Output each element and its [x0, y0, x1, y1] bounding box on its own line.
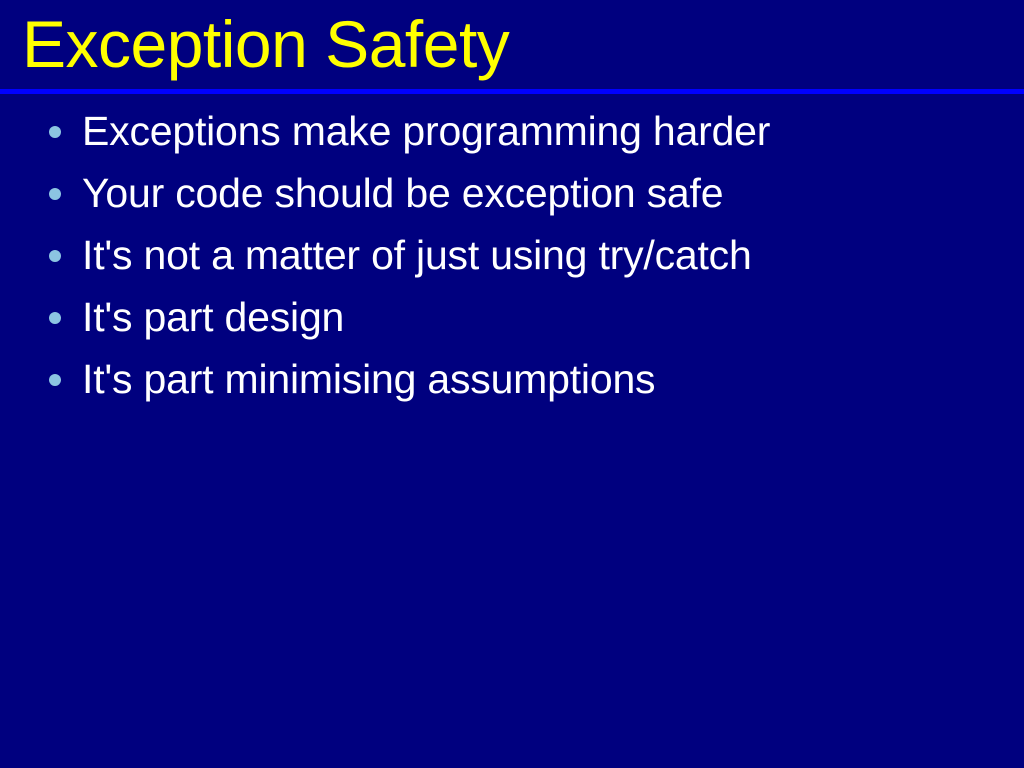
- bullet-list: Exceptions make programming harder Your …: [0, 100, 1024, 410]
- page-title: Exception Safety: [22, 4, 509, 84]
- list-item-label: Exceptions make programming harder: [82, 100, 1024, 162]
- list-item-label: It's part minimising assumptions: [82, 348, 1024, 410]
- list-item: It's part design: [0, 286, 1024, 348]
- presentation-slide: Exception Safety Exceptions make program…: [0, 0, 1024, 768]
- list-item: It's part minimising assumptions: [0, 348, 1024, 410]
- list-item-label: Your code should be exception safe: [82, 162, 1024, 224]
- title-divider: [0, 89, 1024, 94]
- list-item-label: It's not a matter of just using try/catc…: [82, 224, 1024, 286]
- disc-bullet-icon: [49, 126, 61, 138]
- list-item: It's not a matter of just using try/catc…: [0, 224, 1024, 286]
- list-item-label: It's part design: [82, 286, 1024, 348]
- disc-bullet-icon: [49, 188, 61, 200]
- disc-bullet-icon: [49, 312, 61, 324]
- slide-title-area: Exception Safety: [0, 0, 1024, 89]
- list-item: Your code should be exception safe: [0, 162, 1024, 224]
- disc-bullet-icon: [49, 250, 61, 262]
- disc-bullet-icon: [49, 374, 61, 386]
- list-item: Exceptions make programming harder: [0, 100, 1024, 162]
